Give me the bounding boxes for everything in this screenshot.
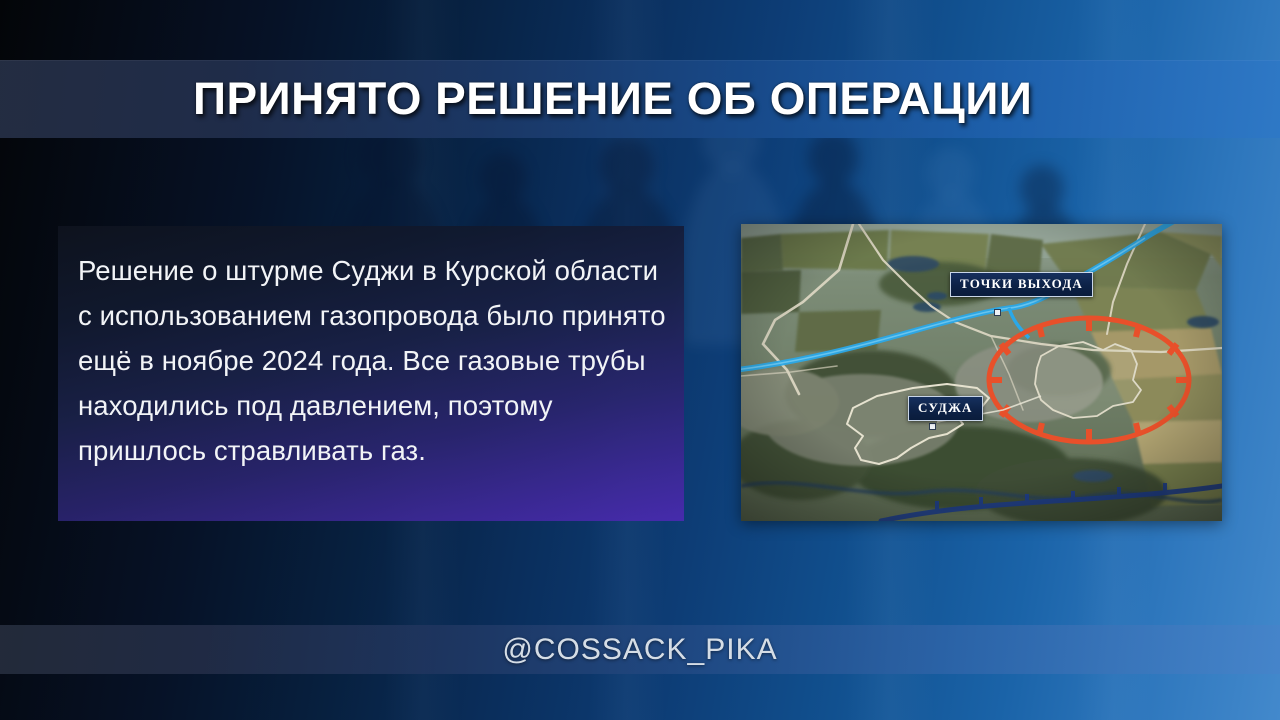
slide-canvas: ПРИНЯТО РЕШЕНИЕ ОБ ОПЕРАЦИИ Решение о шт… xyxy=(0,0,1280,720)
body-text-card: Решение о штурме Суджи в Курской области… xyxy=(58,226,684,521)
body-paragraph: Решение о штурме Суджи в Курской области… xyxy=(78,248,668,473)
map-image-panel: ТОЧКИ ВЫХОДА СУДЖА xyxy=(741,224,1222,521)
map-label-sudzha: СУДЖА xyxy=(908,396,983,421)
sudzha-marker xyxy=(929,423,936,430)
page-title: ПРИНЯТО РЕШЕНИЕ ОБ ОПЕРАЦИИ xyxy=(193,68,1032,130)
channel-handle: @COSSACK_PIKA xyxy=(0,630,1280,670)
map-label-exit-points: ТОЧКИ ВЫХОДА xyxy=(950,272,1093,297)
exit-point-marker xyxy=(994,309,1001,316)
satellite-map-graphic xyxy=(741,224,1222,521)
